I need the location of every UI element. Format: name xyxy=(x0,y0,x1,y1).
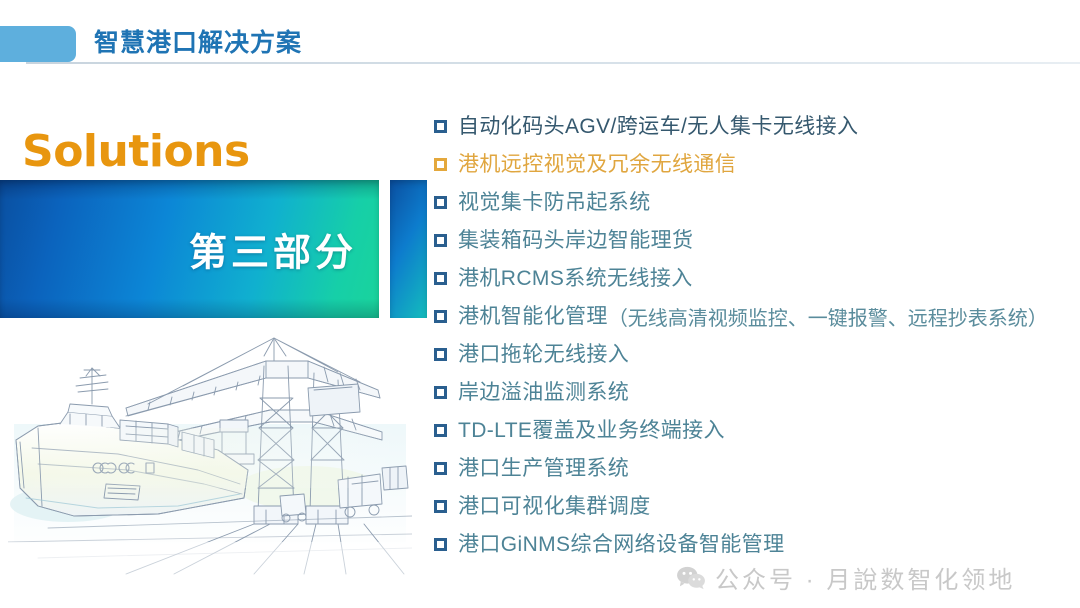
list-item-label: 港机智能化管理 xyxy=(458,302,608,332)
port-illustration xyxy=(8,328,412,576)
watermark: 公众号 · 月說数智化领地 xyxy=(676,560,1015,595)
bullet-square-icon xyxy=(434,348,447,361)
list-item[interactable]: 港机RCMS系统无线接入 xyxy=(434,264,1074,302)
slide-header: 智慧港口解决方案 xyxy=(0,0,1080,66)
bullet-square-icon xyxy=(434,120,447,133)
slide-root: 智慧港口解决方案 Solutions 第三部分 xyxy=(0,0,1080,608)
list-item-label: 港机RCMS系统无线接入 xyxy=(458,264,693,294)
bullet-square-icon xyxy=(434,424,447,437)
list-item-label: 自动化码头AGV/跨运车/无人集卡无线接入 xyxy=(458,112,858,142)
header-tab-marker xyxy=(0,26,76,62)
list-item[interactable]: 集装箱码头岸边智能理货 xyxy=(434,226,1074,264)
list-item[interactable]: 港口可视化集群调度 xyxy=(434,492,1074,530)
list-item-label: 港口GiNMS综合网络设备智能管理 xyxy=(458,530,784,560)
bullet-square-icon xyxy=(434,538,447,551)
bullet-square-icon xyxy=(434,310,447,323)
solutions-list: 自动化码头AGV/跨运车/无人集卡无线接入 港机远控视觉及冗余无线通信 视觉集卡… xyxy=(434,112,1074,568)
bullet-square-icon xyxy=(434,234,447,247)
list-item-label: 港机远控视觉及冗余无线通信 xyxy=(458,150,736,180)
bullet-square-icon xyxy=(434,272,447,285)
list-item-note: （无线高清视频监控、一键报警、远程抄表系统） xyxy=(608,302,1048,331)
list-item-label: 视觉集卡防吊起系统 xyxy=(458,188,651,218)
bullet-square-icon xyxy=(434,196,447,209)
list-item[interactable]: 港口拖轮无线接入 xyxy=(434,340,1074,378)
watermark-text: 公众号 · 月說数智化领地 xyxy=(715,560,1015,595)
list-item-label: 岸边溢油监测系统 xyxy=(458,378,629,408)
list-item[interactable]: TD-LTE覆盖及业务终端接入 xyxy=(434,416,1074,454)
list-item[interactable]: 港口生产管理系统 xyxy=(434,454,1074,492)
page-title: 智慧港口解决方案 xyxy=(94,28,302,58)
header-divider xyxy=(26,62,1080,64)
bullet-square-icon xyxy=(434,462,447,475)
list-item[interactable]: 港机远控视觉及冗余无线通信 xyxy=(434,150,1074,188)
solutions-heading: Solutions xyxy=(22,126,250,178)
list-item-label: 港口生产管理系统 xyxy=(458,454,629,484)
wechat-icon xyxy=(676,565,706,591)
list-item[interactable]: 自动化码头AGV/跨运车/无人集卡无线接入 xyxy=(434,112,1074,150)
list-item-label: 港口可视化集群调度 xyxy=(458,492,651,522)
list-item-label: 港口拖轮无线接入 xyxy=(458,340,629,370)
list-item[interactable]: 港机智能化管理 （无线高清视频监控、一键报警、远程抄表系统） xyxy=(434,302,1074,340)
bullet-square-icon xyxy=(434,500,447,513)
list-item-label: TD-LTE覆盖及业务终端接入 xyxy=(458,416,725,446)
section-banner: 第三部分 xyxy=(0,180,379,318)
list-item-label: 集装箱码头岸边智能理货 xyxy=(458,226,693,256)
list-item[interactable]: 岸边溢油监测系统 xyxy=(434,378,1074,416)
port-container-ship-sketch-svg xyxy=(8,328,412,576)
bullet-square-icon xyxy=(434,386,447,399)
section-banner-label: 第三部分 xyxy=(189,222,357,277)
list-item[interactable]: 视觉集卡防吊起系统 xyxy=(434,188,1074,226)
bullet-square-icon xyxy=(434,158,447,171)
section-banner-strip xyxy=(390,180,427,318)
